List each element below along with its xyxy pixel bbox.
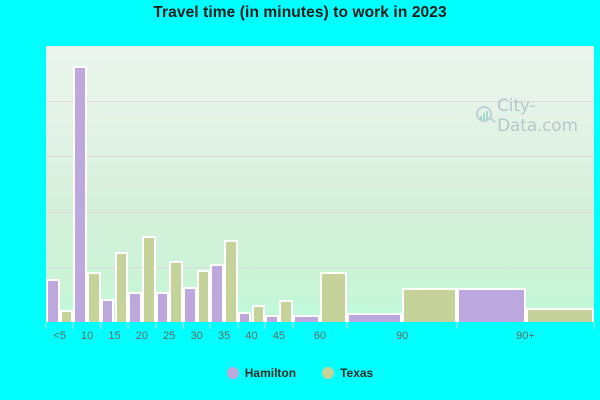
bar — [224, 240, 238, 322]
x-axis-tick-mark — [183, 322, 184, 329]
bar — [128, 292, 142, 322]
legend-item-texas[interactable]: Texas — [322, 366, 373, 380]
x-axis-tick-mark — [155, 322, 156, 329]
legend-label: Texas — [340, 366, 373, 380]
x-axis-tick-label: 90+ — [516, 330, 535, 342]
plot-area: City-Data.com — [46, 46, 594, 322]
bar — [265, 315, 279, 322]
chart-legend: HamiltonTexas — [0, 366, 600, 380]
watermark: City-Data.com — [476, 96, 594, 136]
legend-dot-icon — [227, 367, 239, 379]
bar — [183, 287, 197, 322]
bar — [115, 252, 129, 322]
watermark-text: City-Data.com — [497, 96, 594, 136]
x-axis-tick-mark — [46, 322, 47, 329]
bar — [197, 270, 211, 322]
x-axis-tick-label: 45 — [273, 330, 285, 342]
x-axis-tick-label: <5 — [53, 330, 66, 342]
x-axis-tick-label: 25 — [163, 330, 175, 342]
gridline — [46, 156, 594, 157]
gridline — [46, 212, 594, 213]
bar — [169, 261, 183, 322]
x-axis-tick-mark — [128, 322, 129, 329]
x-axis-tick-mark — [73, 322, 74, 329]
bar — [526, 308, 595, 322]
bar — [156, 292, 170, 322]
bar — [101, 299, 115, 322]
legend-label: Hamilton — [245, 366, 296, 380]
bar — [60, 310, 74, 322]
bar — [457, 288, 526, 322]
legend-dot-icon — [322, 367, 334, 379]
x-axis-tick-mark — [347, 322, 348, 329]
bar — [73, 66, 87, 322]
x-axis-tick-label: 20 — [136, 330, 148, 342]
bar — [252, 305, 266, 322]
bar — [347, 313, 402, 322]
x-axis-tick-mark — [292, 322, 293, 329]
bar — [210, 264, 224, 323]
x-axis-tick-label: 35 — [218, 330, 230, 342]
x-axis: <51015202530354045609090+ — [46, 322, 594, 356]
x-axis-tick-label: 60 — [314, 330, 326, 342]
bar — [238, 312, 252, 322]
chart-container: Travel time (in minutes) to work in 2023… — [0, 0, 600, 400]
bar — [402, 288, 457, 322]
x-axis-tick-mark — [210, 322, 211, 329]
x-axis-tick-label: 15 — [108, 330, 120, 342]
x-axis-tick-label: 30 — [191, 330, 203, 342]
legend-item-hamilton[interactable]: Hamilton — [227, 366, 296, 380]
bar — [320, 272, 347, 322]
bar — [87, 272, 101, 322]
x-axis-tick-label: 90 — [396, 330, 408, 342]
x-axis-tick-mark — [457, 322, 458, 329]
x-axis-tick-mark — [237, 322, 238, 329]
bar — [293, 315, 320, 322]
x-axis-tick-mark — [100, 322, 101, 329]
bar — [279, 300, 293, 322]
x-axis-tick-mark — [594, 322, 595, 329]
magnifier-bar-chart-icon — [476, 106, 493, 127]
x-axis-tick-label: 40 — [245, 330, 257, 342]
x-axis-tick-label: 10 — [81, 330, 93, 342]
bar — [142, 236, 156, 322]
gridline — [46, 267, 594, 268]
bar — [46, 279, 60, 322]
x-axis-tick-mark — [265, 322, 266, 329]
